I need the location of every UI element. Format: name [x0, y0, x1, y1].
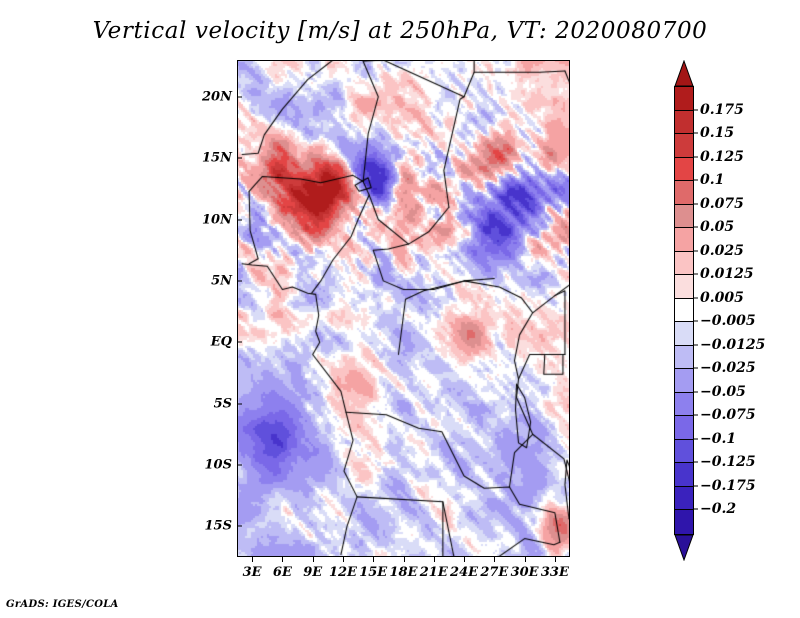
colorbar-band	[675, 228, 693, 252]
y-axis-tick-mark	[237, 219, 242, 220]
y-axis-tick-label: 10N	[202, 212, 232, 227]
x-axis-tick-label: 33E	[541, 565, 569, 580]
x-axis-tick-label: 30E	[511, 565, 539, 580]
colorbar-tick-mark	[693, 344, 698, 345]
x-axis-tick-label: 24E	[450, 565, 478, 580]
x-axis-tick-label: 9E	[303, 565, 322, 580]
colorbar-tick-label: 0.005	[700, 290, 744, 306]
colorbar-tick-mark	[693, 180, 698, 181]
colorbar-tick-mark	[693, 485, 698, 486]
colorbar-tick-mark	[693, 462, 698, 463]
colorbar-band	[675, 440, 693, 464]
y-axis-tick-mark	[237, 96, 242, 97]
page-title: Vertical velocity [m/s] at 250hPa, VT: 2…	[0, 18, 800, 44]
colorbar-tick-mark	[693, 203, 698, 204]
x-axis-tick-label: 6E	[273, 565, 292, 580]
colorbar-bands	[674, 86, 694, 535]
x-axis-tick-mark	[555, 557, 556, 562]
colorbar-band	[675, 134, 693, 158]
x-axis-labels: 3E6E9E12E15E18E21E24E27E30E33E	[237, 557, 570, 587]
colorbar-tick-mark	[693, 391, 698, 392]
y-axis-tick-mark	[237, 280, 242, 281]
x-axis-tick-label: 18E	[390, 565, 418, 580]
y-axis-tick-label: 15S	[205, 519, 232, 534]
colorbar-band	[675, 275, 693, 299]
x-axis-tick-label: 3E	[243, 565, 262, 580]
colorbar-band	[675, 252, 693, 276]
colorbar-tick-label: −0.125	[700, 454, 756, 470]
colorbar-band	[675, 393, 693, 417]
colorbar-tick-label: −0.075	[700, 407, 756, 423]
colorbar-tick-mark	[693, 509, 698, 510]
colorbar-band	[675, 463, 693, 487]
grads-credit: GrADS: IGES/COLA	[6, 599, 119, 610]
x-axis-tick-label: 21E	[420, 565, 448, 580]
colorbar-tick-label: 0.025	[700, 243, 744, 259]
colorbar-band	[675, 487, 693, 511]
colorbar-band	[675, 322, 693, 346]
colorbar-tick-mark	[693, 415, 698, 416]
colorbar-band	[675, 346, 693, 370]
colorbar-tick-label: −0.025	[700, 360, 756, 376]
y-axis-tick-mark	[237, 526, 242, 527]
x-axis-tick-mark	[252, 557, 253, 562]
y-axis-tick-label: 20N	[202, 89, 232, 104]
colorbar-tick-label: 0.05	[700, 219, 734, 235]
y-axis-tick-label: 5N	[211, 273, 232, 288]
colorbar-band	[675, 369, 693, 393]
colorbar-tick-label: 0.075	[700, 196, 744, 212]
y-axis-tick-label: 10S	[205, 457, 232, 472]
colorbar-band	[675, 510, 693, 534]
x-axis-tick-mark	[404, 557, 405, 562]
colorbar-band	[675, 87, 693, 111]
map-plot-area	[237, 60, 570, 557]
colorbar-band	[675, 111, 693, 135]
x-axis-tick-mark	[434, 557, 435, 562]
colorbar-tick-label: 0.15	[700, 125, 734, 141]
y-axis-labels: 20N15N10N5NEQ5S10S15S	[160, 60, 232, 557]
colorbar-band	[675, 299, 693, 323]
x-axis-tick-label: 27E	[480, 565, 508, 580]
colorbar-tick-mark	[693, 274, 698, 275]
colorbar-max-arrow-icon	[674, 60, 694, 87]
colorbar-tick-label: 0.1	[700, 172, 724, 188]
colorbar-tick-label: 0.0125	[700, 266, 754, 282]
colorbar-band	[675, 181, 693, 205]
colorbar-tick-label: −0.175	[700, 478, 756, 494]
colorbar-tick-label: −0.0125	[700, 337, 765, 353]
y-axis-tick-label: 5S	[214, 396, 232, 411]
x-axis-tick-mark	[464, 557, 465, 562]
colorbar-tick-mark	[693, 227, 698, 228]
x-axis-tick-mark	[525, 557, 526, 562]
colorbar-tick-label: −0.2	[700, 501, 736, 517]
y-axis-tick-mark	[237, 342, 242, 343]
x-axis-tick-label: 12E	[329, 565, 357, 580]
colorbar-tick-mark	[693, 297, 698, 298]
colorbar-tick-mark	[693, 368, 698, 369]
colorbar-band	[675, 158, 693, 182]
colorbar: 0.1750.150.1250.10.0750.050.0250.01250.0…	[672, 60, 792, 560]
y-axis-tick-mark	[237, 464, 242, 465]
colorbar-tick-mark	[693, 321, 698, 322]
y-axis-tick-label: 15N	[202, 151, 232, 166]
x-axis-tick-mark	[373, 557, 374, 562]
x-axis-tick-mark	[282, 557, 283, 562]
colorbar-tick-mark	[693, 250, 698, 251]
y-axis-tick-label: EQ	[211, 335, 232, 350]
vertical-velocity-field	[237, 60, 570, 557]
colorbar-tick-label: −0.005	[700, 313, 756, 329]
x-axis-tick-mark	[343, 557, 344, 562]
colorbar-band	[675, 416, 693, 440]
colorbar-tick-label: −0.05	[700, 384, 746, 400]
colorbar-tick-mark	[693, 438, 698, 439]
colorbar-min-arrow-icon	[674, 534, 694, 561]
colorbar-tick-label: −0.1	[700, 431, 736, 447]
colorbar-tick-label: 0.175	[700, 102, 744, 118]
y-axis-tick-mark	[237, 403, 242, 404]
x-axis-tick-mark	[494, 557, 495, 562]
x-axis-tick-mark	[313, 557, 314, 562]
colorbar-tick-mark	[693, 156, 698, 157]
colorbar-tick-mark	[693, 109, 698, 110]
colorbar-tick-mark	[693, 133, 698, 134]
x-axis-tick-label: 15E	[359, 565, 387, 580]
y-axis-tick-mark	[237, 158, 242, 159]
colorbar-band	[675, 205, 693, 229]
colorbar-tick-label: 0.125	[700, 149, 744, 165]
